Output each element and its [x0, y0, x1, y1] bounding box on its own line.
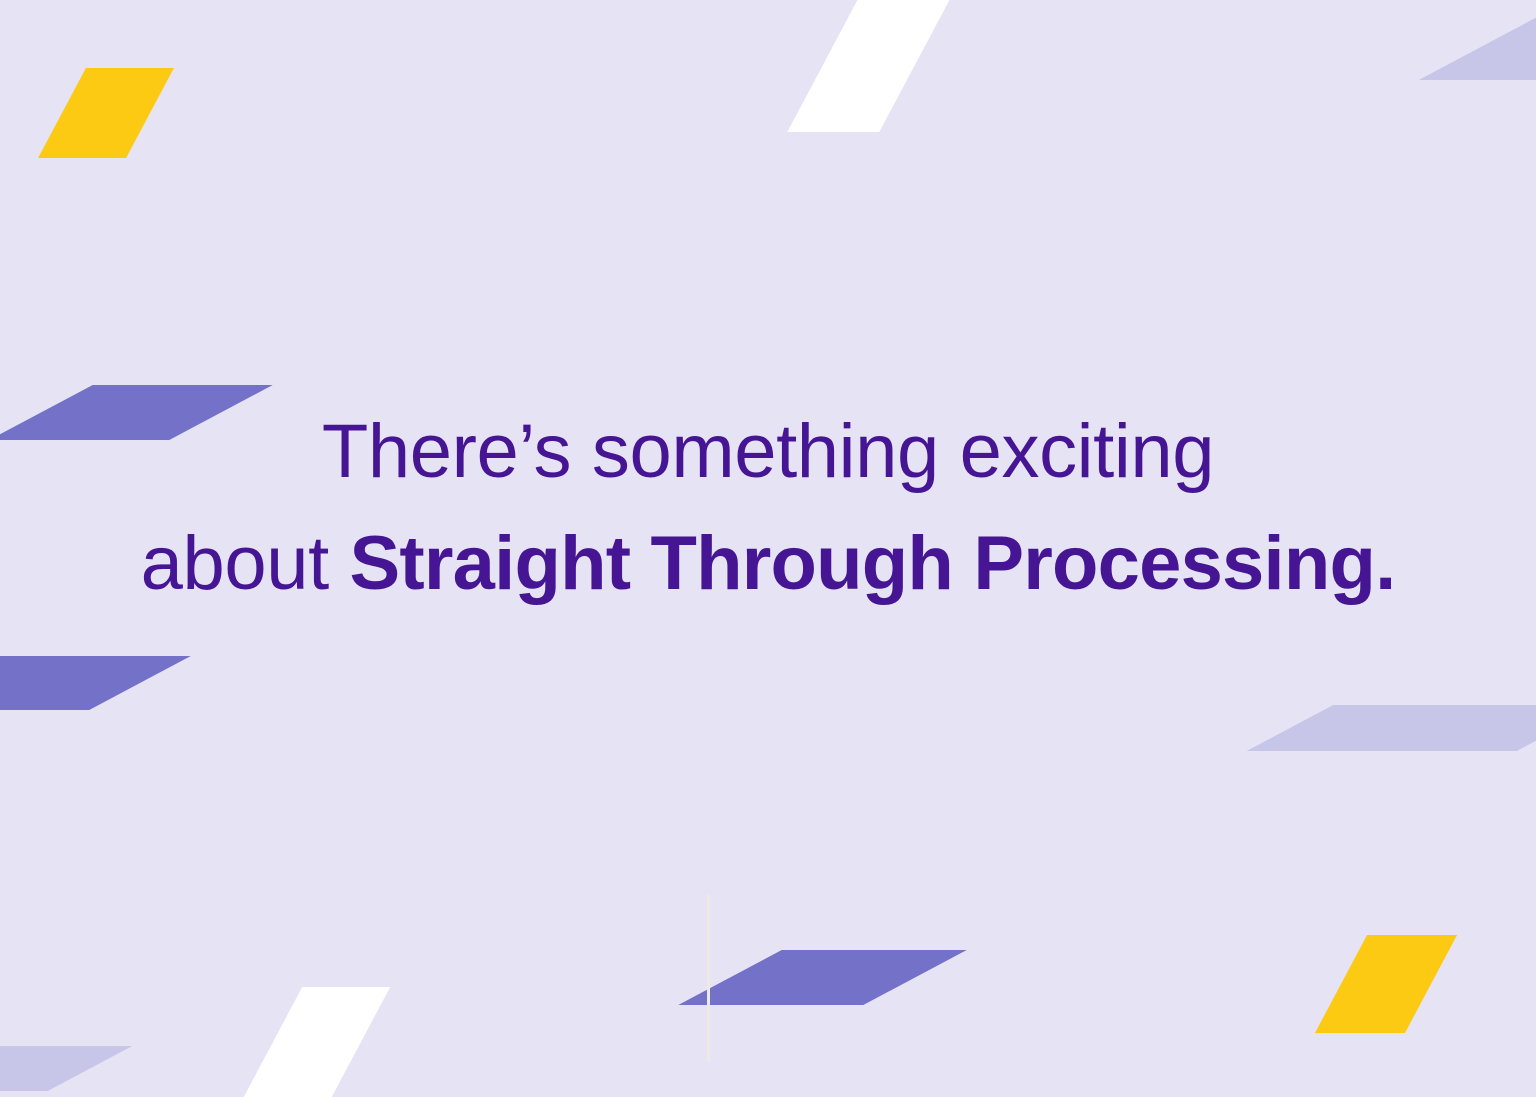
white-parallelogram-top-center-icon [787, 0, 970, 132]
vertical-hairline-bottom-center-icon [707, 895, 710, 1061]
yellow-parallelogram-top-left-icon [38, 68, 174, 158]
purple-parallelogram-left-lower-icon [0, 656, 191, 710]
headline-line-2: about Straight Through Processing. [0, 508, 1536, 620]
slide-headline: There’s something exciting about Straigh… [0, 396, 1536, 621]
lavender-parallelogram-right-icon [1247, 705, 1536, 751]
headline-line-2-emphasis: Straight Through Processing. [350, 521, 1396, 606]
white-parallelogram-bottom-left-icon [228, 987, 390, 1097]
title-slide: There’s something exciting about Straigh… [0, 0, 1536, 1097]
purple-parallelogram-bottom-center-icon [678, 950, 966, 1005]
lavender-parallelogram-bottom-left-icon [0, 1046, 132, 1091]
yellow-parallelogram-bottom-right-icon [1315, 935, 1457, 1033]
lavender-parallelogram-top-right-icon [1419, 17, 1536, 80]
headline-line-1: There’s something exciting [0, 396, 1536, 508]
headline-line-2-regular: about [141, 521, 350, 606]
